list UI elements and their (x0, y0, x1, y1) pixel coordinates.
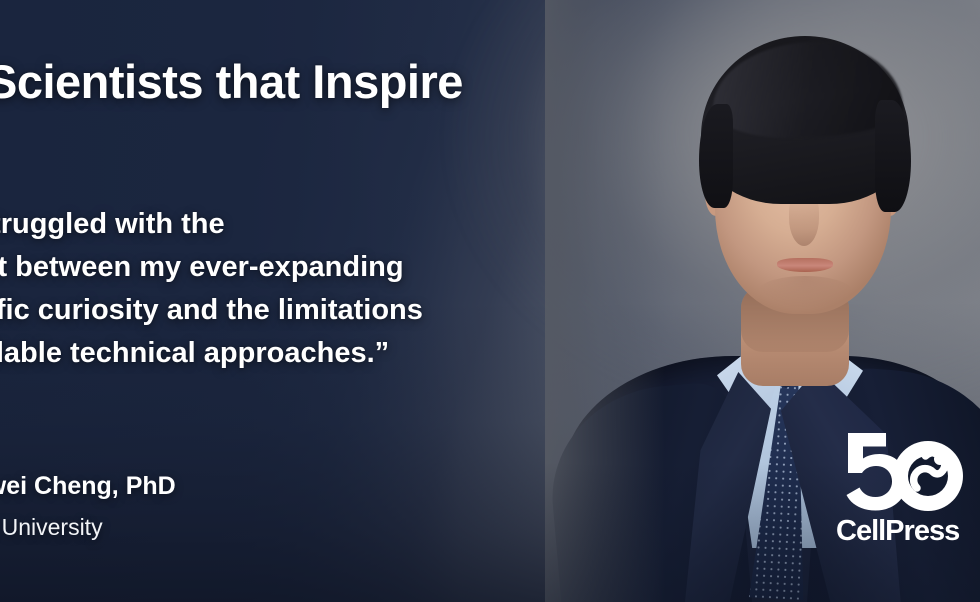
svg-text:CellPress: CellPress (836, 515, 959, 547)
anniversary-50-icon (842, 428, 964, 519)
quote-text: “I’ve struggled with the conflict betwee… (0, 203, 604, 375)
quote-line-1: “I’ve struggled with the (0, 203, 604, 246)
quote-line-3: scientific curiosity and the limitations (0, 289, 604, 332)
quote-line-4: of available technical approaches.” (0, 332, 604, 375)
cell-press-wordmark: CellPress (836, 514, 970, 553)
cell-press-logo: CellPress (836, 428, 970, 556)
chin-shading (757, 276, 853, 308)
page-title: Scientists that Inspire (0, 54, 606, 109)
attribution-name: Xiaowei Cheng, PhD (0, 472, 176, 501)
attribution-organization: Fudan University (0, 514, 103, 541)
quote-line-2: conflict between my ever-expanding (0, 246, 604, 289)
text-column: Scientists that Inspire “I’ve struggled … (0, 0, 600, 602)
mouth (777, 258, 833, 272)
hair-side-left (699, 104, 733, 208)
scientists-that-inspire-banner: Scientists that Inspire “I’ve struggled … (0, 0, 980, 602)
